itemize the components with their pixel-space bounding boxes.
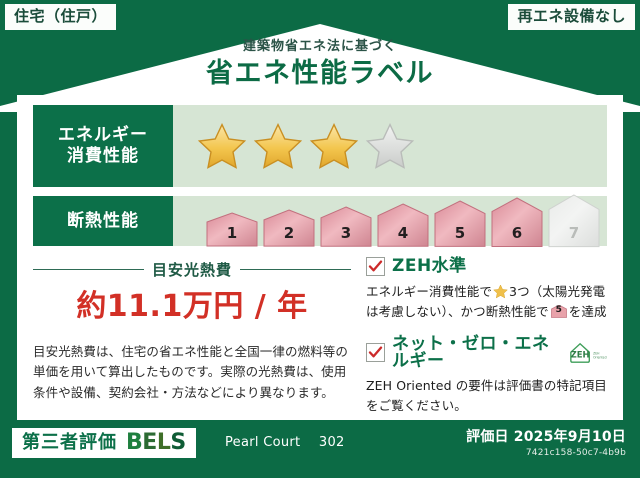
- star-filled-icon: [253, 122, 303, 170]
- net-zero-body: ZEH Oriented の要件は評価書の特記項目をご覧ください。: [366, 376, 607, 417]
- insulation-level-number: 1: [205, 226, 259, 241]
- zeh-standard-block: ZEH水準 エネルギー消費性能で 3つ（太陽光発電は考慮しない）、かつ断熱性能で…: [366, 257, 607, 323]
- insulation-level-item: 5: [433, 200, 487, 248]
- insulation-level-number: 5: [433, 226, 487, 241]
- insulation-performance-label-box: 断熱性能: [33, 196, 173, 246]
- insulation-performance-row: 断熱性能 1234567: [33, 196, 607, 246]
- zeh-standard-title: ZEH水準: [392, 258, 467, 275]
- energy-label-line1: エネルギー: [58, 125, 148, 146]
- property-info: Pearl Court 302: [225, 436, 345, 449]
- zeh-standard-text-part2: を達成: [569, 304, 607, 319]
- energy-performance-label: 住宅（住戸） 再エネ設備なし 建築物省エネ法に基づく 省エネ性能ラベル エネルギ…: [0, 0, 640, 478]
- energy-performance-row: エネルギー 消費性能: [33, 105, 607, 187]
- utility-cost-value: 約11.1万円 / 年: [33, 292, 351, 322]
- net-zero-title: ネット・ゼロ・エネルギー: [392, 336, 558, 370]
- evaluation-date: 評価日 2025年9月10日: [466, 430, 626, 444]
- bels-mark: BELS: [126, 432, 186, 454]
- insulation-level-number: 2: [262, 226, 316, 241]
- insulation-level-number: 7: [547, 226, 601, 241]
- heading-rule-left: [33, 269, 144, 270]
- zeh-standard-body: エネルギー消費性能で 3つ（太陽光発電は考慮しない）、かつ断熱性能で 5 を達成: [366, 282, 607, 323]
- svg-text:Oriented: Oriented: [593, 355, 606, 359]
- energy-stars-panel: [173, 105, 607, 187]
- insulation-level-item: 4: [376, 203, 430, 248]
- heading-rule-right: [240, 269, 351, 270]
- zeh-standard-text-part1: エネルギー消費性能で: [366, 284, 492, 299]
- utility-cost-section: 目安光熱費 約11.1万円 / 年 目安光熱費は、住宅の省エネ性能と全国一律の燃…: [33, 255, 351, 410]
- net-zero-heading: ネット・ゼロ・エネルギー ZEH ZEH Oriented: [366, 336, 607, 370]
- zeh-standard-heading: ZEH水準: [366, 257, 607, 276]
- utility-cost-note: 目安光熱費は、住宅の省エネ性能と全国一律の燃料等の単価を用いて算出したものです。…: [33, 342, 351, 403]
- star-empty-icon: [365, 122, 415, 170]
- bels-third-party-label: 第三者評価: [22, 434, 117, 452]
- energy-performance-label-box: エネルギー 消費性能: [33, 105, 173, 187]
- inline-insulation-badge-value: 5: [551, 306, 567, 315]
- label-card: エネルギー 消費性能 断熱性能 1234567 目安光熱費: [17, 95, 623, 420]
- star-rating: [197, 122, 415, 170]
- zeh-section: ZEH水準 エネルギー消費性能で 3つ（太陽光発電は考慮しない）、かつ断熱性能で…: [352, 255, 607, 410]
- star-filled-icon: [309, 122, 359, 170]
- insulation-house-scale: 1234567: [197, 194, 601, 249]
- bels-logo: 第三者評価 BELS: [12, 428, 196, 458]
- star-filled-icon: [197, 122, 247, 170]
- property-unit: 302: [319, 435, 345, 450]
- insulation-level-number: 3: [319, 226, 373, 241]
- zeh-logo-icon: ZEH ZEH Oriented: [567, 341, 607, 365]
- insulation-level-item: 7: [547, 194, 601, 249]
- utility-cost-heading: 目安光熱費: [33, 259, 351, 280]
- insulation-levels-panel: 1234567: [173, 196, 607, 246]
- insulation-level-item: 1: [205, 212, 259, 248]
- net-zero-block: ネット・ゼロ・エネルギー ZEH ZEH Oriented ZEH Orient…: [366, 336, 607, 417]
- insulation-level-number: 6: [490, 226, 544, 241]
- checkbox-checked-icon: [366, 343, 385, 362]
- inline-star-icon: [493, 284, 508, 299]
- insulation-level-item: 6: [490, 197, 544, 249]
- insulation-label: 断熱性能: [67, 211, 139, 232]
- inline-insulation-badge: 5: [551, 304, 567, 317]
- insulation-level-item: 2: [262, 209, 316, 248]
- lower-section: 目安光熱費 約11.1万円 / 年 目安光熱費は、住宅の省エネ性能と全国一律の燃…: [33, 255, 607, 410]
- checkbox-checked-icon: [366, 257, 385, 276]
- tag-renewable-equipment: 再エネ設備なし: [508, 4, 635, 30]
- property-name: Pearl Court: [225, 435, 300, 450]
- evaluation-info: 評価日 2025年9月10日 7421c158-50c7-4b9b: [466, 430, 626, 458]
- energy-label-line2: 消費性能: [67, 146, 139, 167]
- evaluation-id: 7421c158-50c7-4b9b: [466, 449, 626, 458]
- insulation-level-number: 4: [376, 226, 430, 241]
- footer: 第三者評価 BELS Pearl Court 302 評価日 2025年9月10…: [0, 420, 640, 478]
- svg-text:ZEH: ZEH: [571, 349, 590, 359]
- utility-cost-heading-text: 目安光熱費: [152, 259, 232, 280]
- insulation-level-item: 3: [319, 206, 373, 248]
- tag-building-type: 住宅（住戸）: [5, 4, 116, 30]
